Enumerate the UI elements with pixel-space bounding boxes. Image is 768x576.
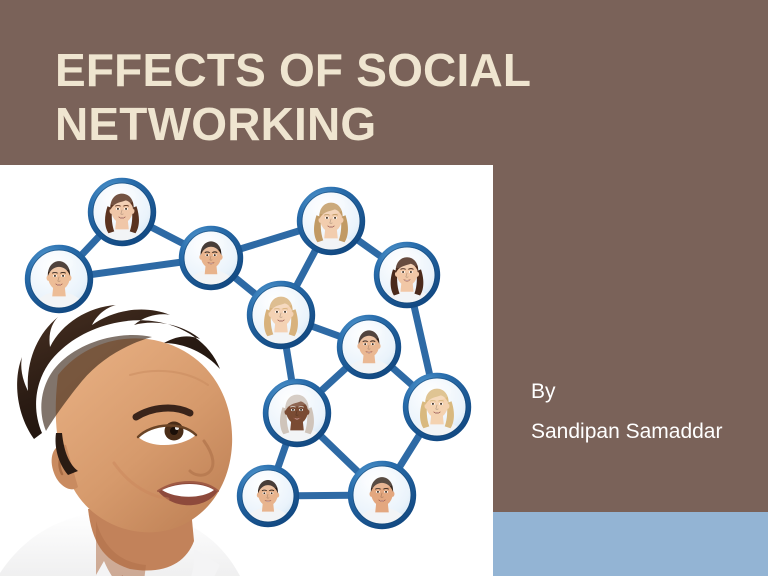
byline-author: Sandipan Samaddar <box>531 412 722 452</box>
page-title: Effects of Social Networking <box>55 43 695 152</box>
social-network-illustration <box>0 165 493 576</box>
byline: By Sandipan Samaddar <box>531 372 722 452</box>
accent-bar <box>493 512 768 576</box>
title-photo <box>0 165 493 576</box>
byline-prefix: By <box>531 372 722 412</box>
slide-canvas: Effects of Social Networking <box>0 0 768 576</box>
